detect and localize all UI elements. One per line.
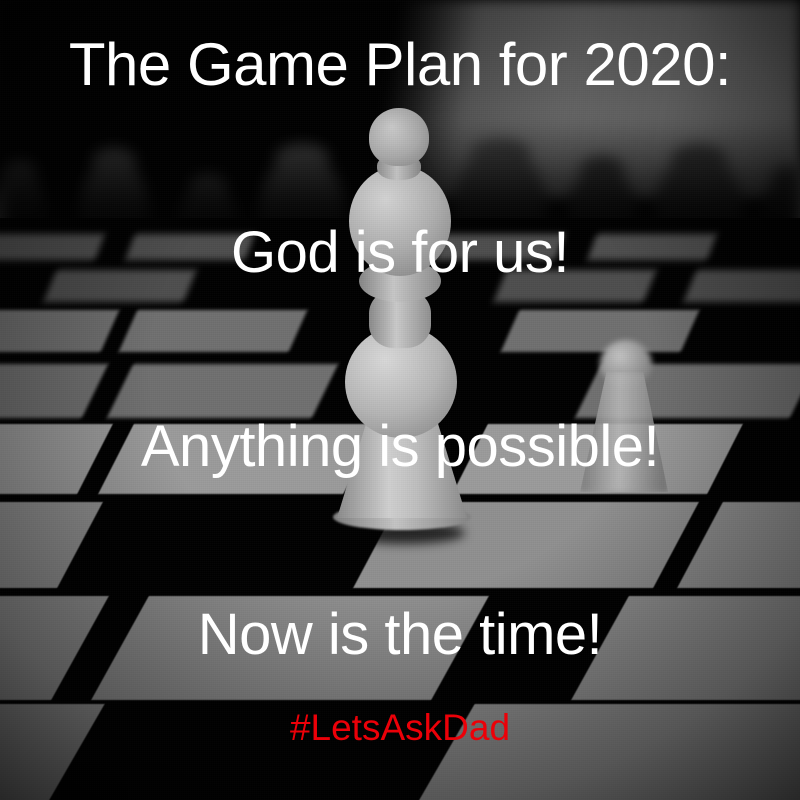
poster-canvas: The Game Plan for 2020: God is for us! A… <box>0 0 800 800</box>
board-square <box>125 234 254 260</box>
board-square <box>571 596 800 700</box>
board-square <box>684 270 800 302</box>
pawn-head <box>369 108 429 166</box>
board-square <box>501 310 700 352</box>
board-square <box>0 704 105 800</box>
board-square <box>107 364 338 418</box>
board-square <box>119 310 308 352</box>
board-square <box>494 270 657 302</box>
board-square <box>0 502 103 588</box>
board-square <box>91 596 489 700</box>
background-photo <box>0 0 800 800</box>
board-square <box>44 270 197 302</box>
board-square <box>0 310 119 352</box>
pawn-bulb <box>349 166 451 276</box>
white-pawn-figure <box>315 108 490 538</box>
board-square <box>0 424 113 494</box>
board-square <box>0 364 108 418</box>
board-square <box>0 234 105 260</box>
board-square <box>405 704 800 800</box>
board-square <box>587 234 716 260</box>
board-square <box>0 596 109 700</box>
board-square <box>677 502 800 588</box>
